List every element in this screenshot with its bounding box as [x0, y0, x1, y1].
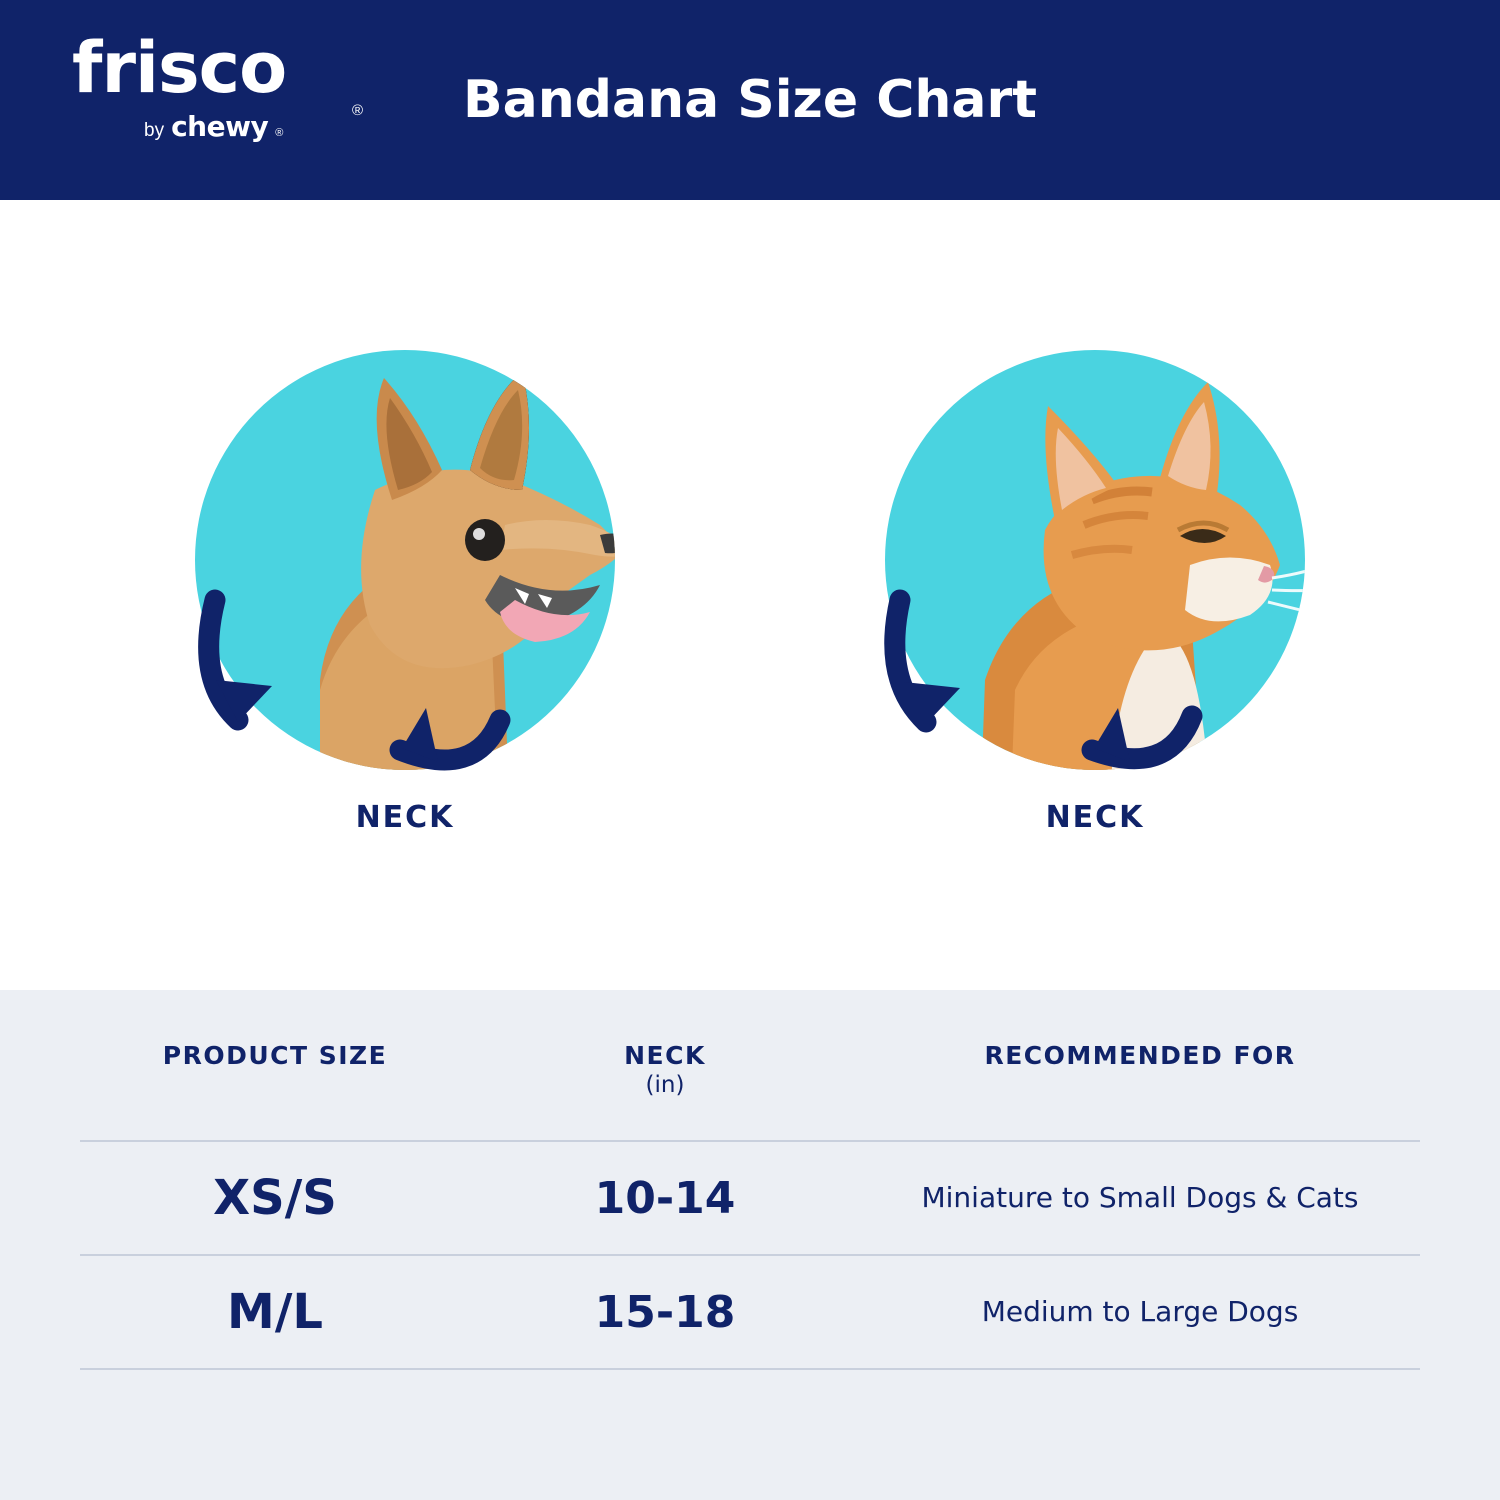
table-header-row: PRODUCT SIZE NECK (in) RECOMMENDED FOR	[80, 990, 1420, 1141]
row-0-size: XS/S	[80, 1141, 470, 1255]
row-0-recommended: Miniature to Small Dogs & Cats	[860, 1141, 1420, 1255]
size-table-section: PRODUCT SIZE NECK (in) RECOMMENDED FOR X…	[0, 990, 1500, 1500]
row-1-neck: 15-18	[470, 1255, 860, 1368]
dog-neck-label: NECK	[170, 800, 640, 835]
page-header: frisco ® by chewy ® Bandana Size Chart	[0, 0, 1500, 200]
table-row: M/L 15-18 Medium to Large Dogs	[80, 1255, 1420, 1368]
table-bottom-divider	[80, 1368, 1420, 1370]
dog-illustration: NECK	[170, 350, 640, 910]
cat-illustration: NECK	[860, 350, 1330, 910]
size-chart-page: frisco ® by chewy ® Bandana Size Chart	[0, 0, 1500, 1500]
page-title: Bandana Size Chart	[0, 0, 1500, 200]
row-0-neck: 10-14	[470, 1141, 860, 1255]
header-neck-label: NECK	[470, 1040, 860, 1072]
header-recommended-for: RECOMMENDED FOR	[860, 990, 1420, 1141]
row-1-size: M/L	[80, 1255, 470, 1368]
size-table-head: PRODUCT SIZE NECK (in) RECOMMENDED FOR	[80, 990, 1420, 1141]
size-table-body: XS/S 10-14 Miniature to Small Dogs & Cat…	[80, 1141, 1420, 1368]
illustration-area: NECK	[0, 200, 1500, 990]
table-row: XS/S 10-14 Miniature to Small Dogs & Cat…	[80, 1141, 1420, 1255]
size-table: PRODUCT SIZE NECK (in) RECOMMENDED FOR X…	[80, 990, 1420, 1368]
header-product-size-label: PRODUCT SIZE	[80, 1040, 470, 1072]
cat-graphic	[860, 350, 1330, 820]
row-1-recommended: Medium to Large Dogs	[860, 1255, 1420, 1368]
dog-graphic	[170, 350, 640, 820]
cat-neck-label: NECK	[860, 800, 1330, 835]
header-neck-unit: (in)	[470, 1072, 860, 1098]
header-recommended-for-label: RECOMMENDED FOR	[860, 1040, 1420, 1072]
header-product-size: PRODUCT SIZE	[80, 990, 470, 1141]
header-neck: NECK (in)	[470, 990, 860, 1141]
